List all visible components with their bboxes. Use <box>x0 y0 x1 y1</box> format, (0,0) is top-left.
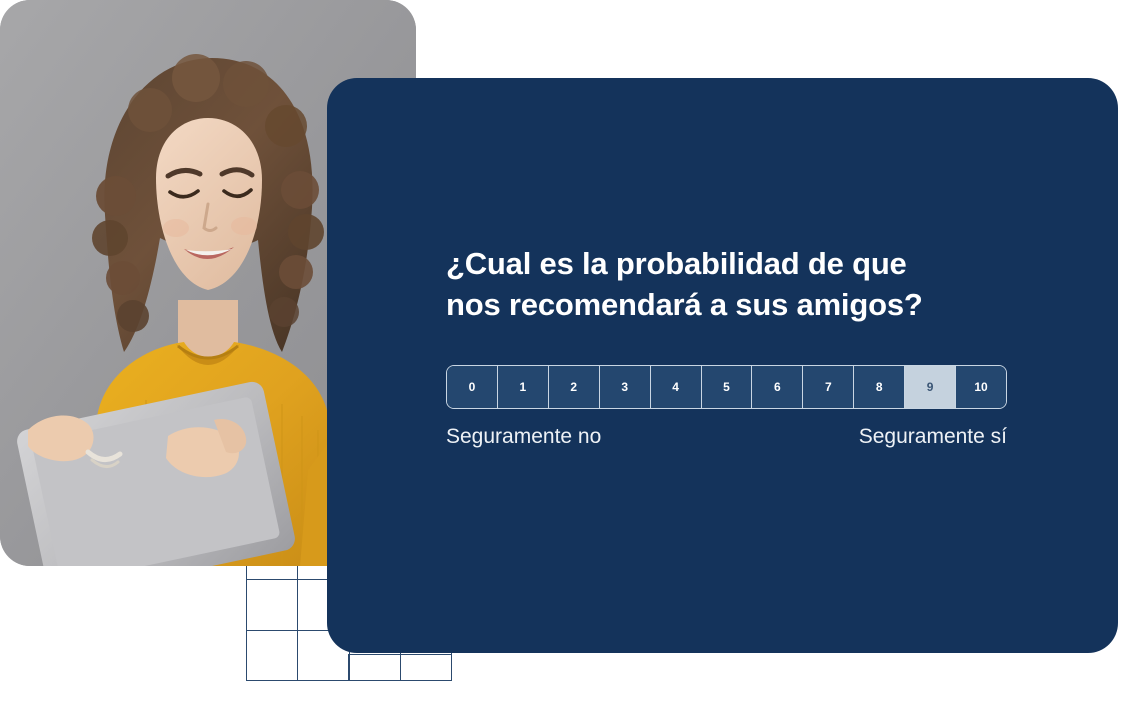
scale-option-7[interactable]: 7 <box>803 366 854 408</box>
scale-label-high: Seguramente sí <box>859 425 1007 449</box>
scale-option-5[interactable]: 5 <box>702 366 753 408</box>
scale-option-2[interactable]: 2 <box>549 366 600 408</box>
scale-option-0[interactable]: 0 <box>447 366 498 408</box>
nps-scale-container: 0 1 2 3 4 5 6 7 8 9 10 Seguramente no Se… <box>446 365 1007 455</box>
scale-option-1[interactable]: 1 <box>498 366 549 408</box>
scale-label-low: Seguramente no <box>446 425 601 449</box>
scale-option-4[interactable]: 4 <box>651 366 702 408</box>
survey-promo-stage: ¿Cual es la probabilidad de que nos reco… <box>0 0 1130 705</box>
scale-option-3[interactable]: 3 <box>600 366 651 408</box>
scale-option-8[interactable]: 8 <box>854 366 905 408</box>
scale-option-6[interactable]: 6 <box>752 366 803 408</box>
nps-scale[interactable]: 0 1 2 3 4 5 6 7 8 9 10 <box>446 365 1007 409</box>
survey-question-title: ¿Cual es la probabilidad de que nos reco… <box>446 244 1046 326</box>
scale-option-10[interactable]: 10 <box>956 366 1006 408</box>
scale-option-9[interactable]: 9 <box>905 366 956 408</box>
scale-endpoint-labels: Seguramente no Seguramente sí <box>446 425 1007 455</box>
survey-card-content: ¿Cual es la probabilidad de que nos reco… <box>446 244 1046 326</box>
decorative-grid-lower <box>348 654 452 681</box>
